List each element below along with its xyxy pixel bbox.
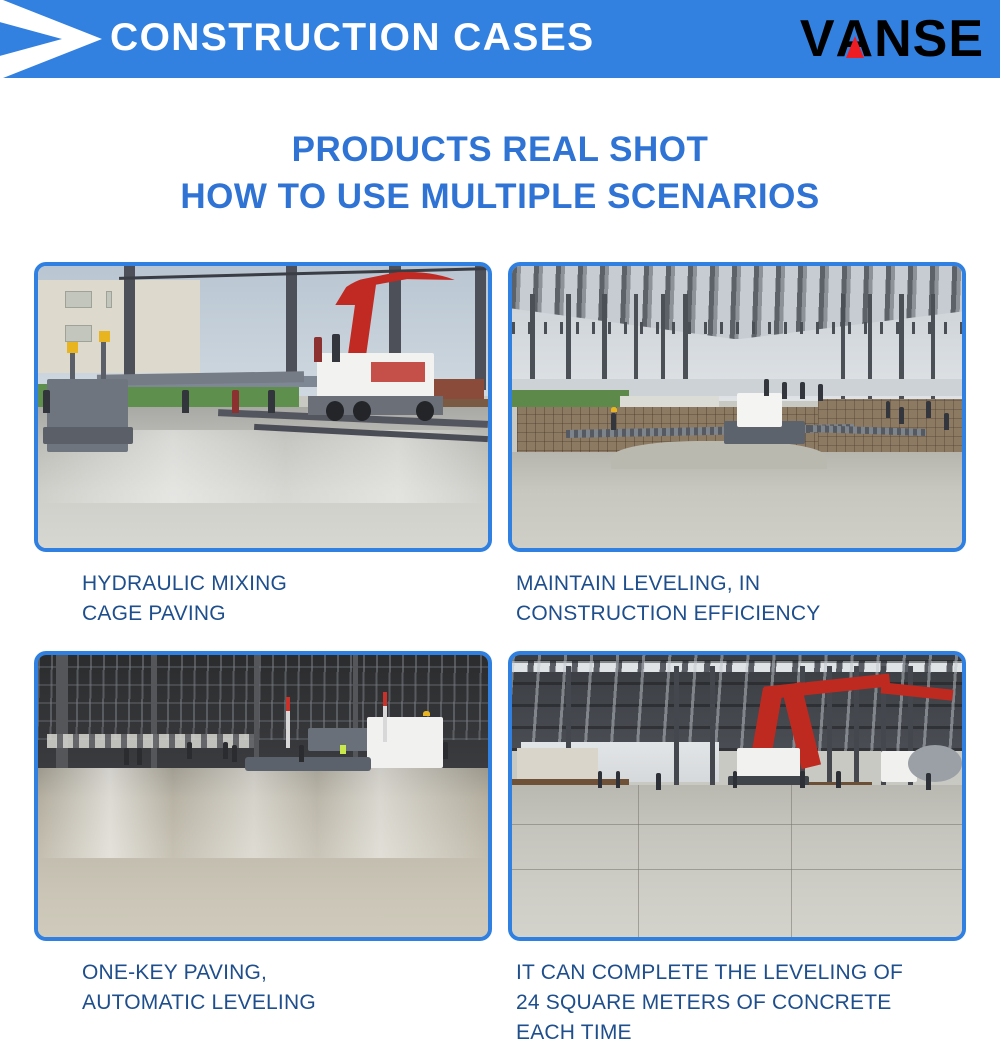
cases-grid: HYDRAULIC MIXING CAGE PAVING: [34, 262, 966, 1048]
case-caption-2: MAINTAIN LEVELING, IN CONSTRUCTION EFFIC…: [508, 569, 966, 629]
caption-line: CAGE PAVING: [82, 599, 492, 629]
case-card-3: ONE-KEY PAVING, AUTOMATIC LEVELING: [34, 651, 492, 1048]
cases-row-2: ONE-KEY PAVING, AUTOMATIC LEVELING: [34, 651, 966, 1048]
logo-text-after: NSE: [874, 10, 984, 68]
one-key-paving-photo[interactable]: [34, 651, 492, 941]
caption-line: ONE-KEY PAVING,: [82, 958, 492, 988]
heading-line-1: PRODUCTS REAL SHOT: [0, 126, 1000, 173]
caption-line: EACH TIME: [516, 1018, 966, 1048]
cases-row-1: HYDRAULIC MIXING CAGE PAVING: [34, 262, 966, 629]
caption-line: CONSTRUCTION EFFICIENCY: [516, 599, 966, 629]
caption-line: AUTOMATIC LEVELING: [82, 988, 492, 1018]
page-title: CONSTRUCTION CASES: [110, 16, 595, 60]
case-caption-4: IT CAN COMPLETE THE LEVELING OF 24 SQUAR…: [508, 958, 966, 1048]
case-card-2: MAINTAIN LEVELING, IN CONSTRUCTION EFFIC…: [508, 262, 966, 629]
case-card-1: HYDRAULIC MIXING CAGE PAVING: [34, 262, 492, 629]
caption-line: 24 SQUARE METERS OF CONCRETE: [516, 988, 966, 1018]
maintain-leveling-photo[interactable]: [508, 262, 966, 552]
logo-letter-a: A: [836, 10, 875, 68]
case-caption-3: ONE-KEY PAVING, AUTOMATIC LEVELING: [34, 958, 492, 1018]
construction-cases-page: CONSTRUCTION CASES VANSE PRODUCTS REAL S…: [0, 0, 1000, 1052]
case-card-4: IT CAN COMPLETE THE LEVELING OF 24 SQUAR…: [508, 651, 966, 1048]
caption-line: HYDRAULIC MIXING: [82, 569, 492, 599]
section-headings: PRODUCTS REAL SHOT HOW TO USE MULTIPLE S…: [0, 126, 1000, 220]
logo-wordmark: VANSE: [800, 10, 984, 68]
case-caption-1: HYDRAULIC MIXING CAGE PAVING: [34, 569, 492, 629]
red-triangle-icon: [846, 36, 864, 58]
leveling-capacity-photo[interactable]: [508, 651, 966, 941]
logo-text-before: V: [800, 10, 836, 68]
heading-line-2: HOW TO USE MULTIPLE SCENARIOS: [0, 173, 1000, 220]
vanse-logo: VANSE: [800, 10, 984, 68]
caption-line: MAINTAIN LEVELING, IN: [516, 569, 966, 599]
hydraulic-mixing-cage-paving-photo[interactable]: [34, 262, 492, 552]
caption-line: IT CAN COMPLETE THE LEVELING OF: [516, 958, 966, 988]
